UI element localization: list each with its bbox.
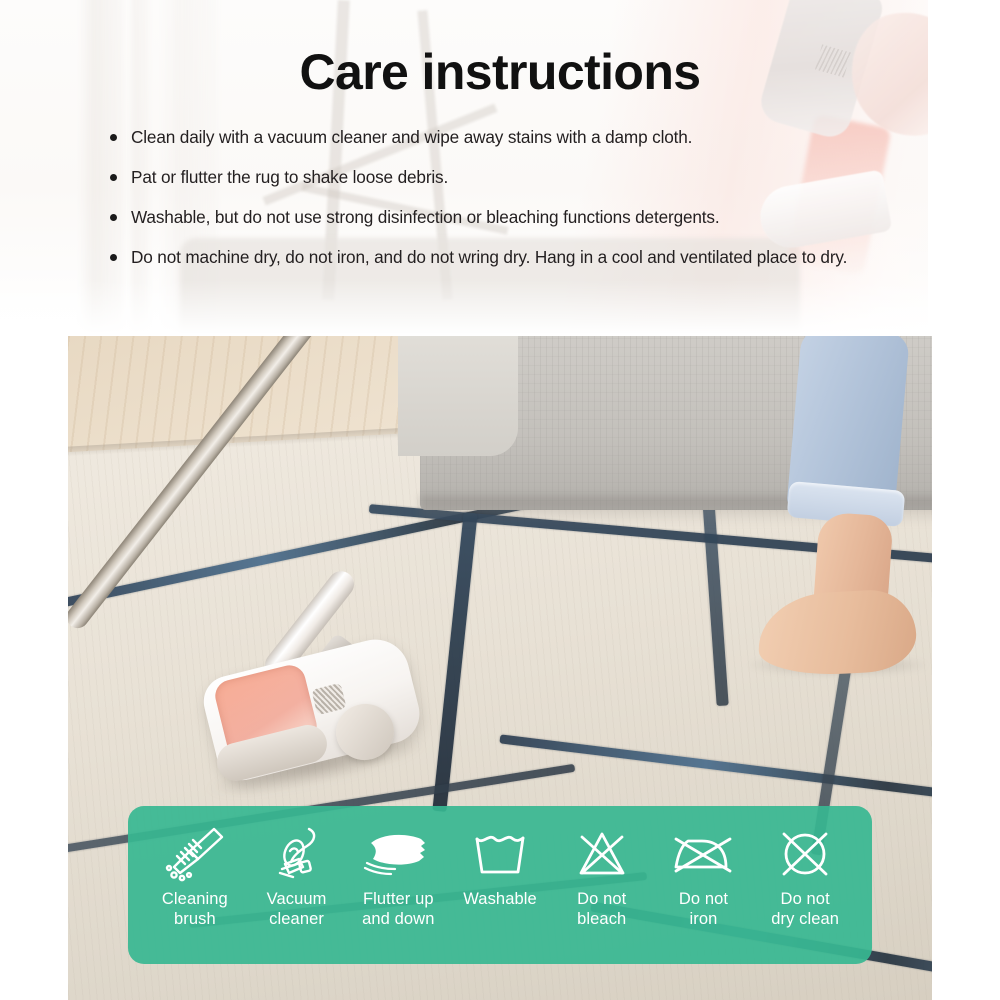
list-item: Clean daily with a vacuum cleaner and wi… (108, 126, 908, 149)
care-instructions-page: Care instructions Clean daily with a vac… (0, 0, 1000, 1000)
washable-icon (472, 824, 528, 884)
list-item: Pat or flutter the rug to shake loose de… (108, 166, 908, 189)
bullet-dot-icon (110, 254, 117, 261)
do-not-iron-icon (672, 824, 734, 884)
list-item-text: Do not machine dry, do not iron, and do … (131, 247, 847, 267)
bullet-dot-icon (110, 174, 117, 181)
care-item-flutter: Flutter up and down (347, 824, 449, 930)
care-label: Washable (463, 890, 537, 910)
care-label: Do not dry clean (771, 890, 839, 930)
sofa-cushion (398, 336, 518, 456)
care-label: Flutter up and down (362, 890, 434, 930)
list-item: Do not machine dry, do not iron, and do … (108, 246, 908, 269)
care-item-do-not-dry-clean: Do not dry clean (754, 824, 856, 930)
care-item-do-not-iron: Do not iron (653, 824, 755, 930)
list-item-text: Pat or flutter the rug to shake loose de… (131, 167, 448, 187)
care-label: Do not iron (679, 890, 728, 930)
care-item-do-not-bleach: Do not bleach (551, 824, 653, 930)
care-label: Cleaning brush (162, 890, 228, 930)
care-label: Do not bleach (577, 890, 626, 930)
list-item: Washable, but do not use strong disinfec… (108, 206, 908, 229)
care-item-washable: Washable (449, 824, 551, 910)
care-item-vacuum-cleaner: Vacuum cleaner (246, 824, 348, 930)
bullet-dot-icon (110, 214, 117, 221)
flutter-up-and-down-icon (363, 824, 433, 884)
page-title: Care instructions (0, 44, 1000, 100)
bullet-dot-icon (110, 134, 117, 141)
list-item-text: Washable, but do not use strong disinfec… (131, 207, 720, 227)
cleaning-brush-icon (164, 824, 226, 884)
list-item-text: Clean daily with a vacuum cleaner and wi… (131, 127, 692, 147)
care-item-cleaning-brush: Cleaning brush (144, 824, 246, 930)
care-label: Vacuum cleaner (267, 890, 327, 930)
do-not-bleach-icon (575, 824, 629, 884)
care-instruction-list: Clean daily with a vacuum cleaner and wi… (108, 126, 908, 269)
do-not-dry-clean-icon (778, 824, 832, 884)
care-symbols-bar: Cleaning brush Vacuum cleaner (128, 806, 872, 964)
vacuum-cleaner-icon (269, 824, 325, 884)
